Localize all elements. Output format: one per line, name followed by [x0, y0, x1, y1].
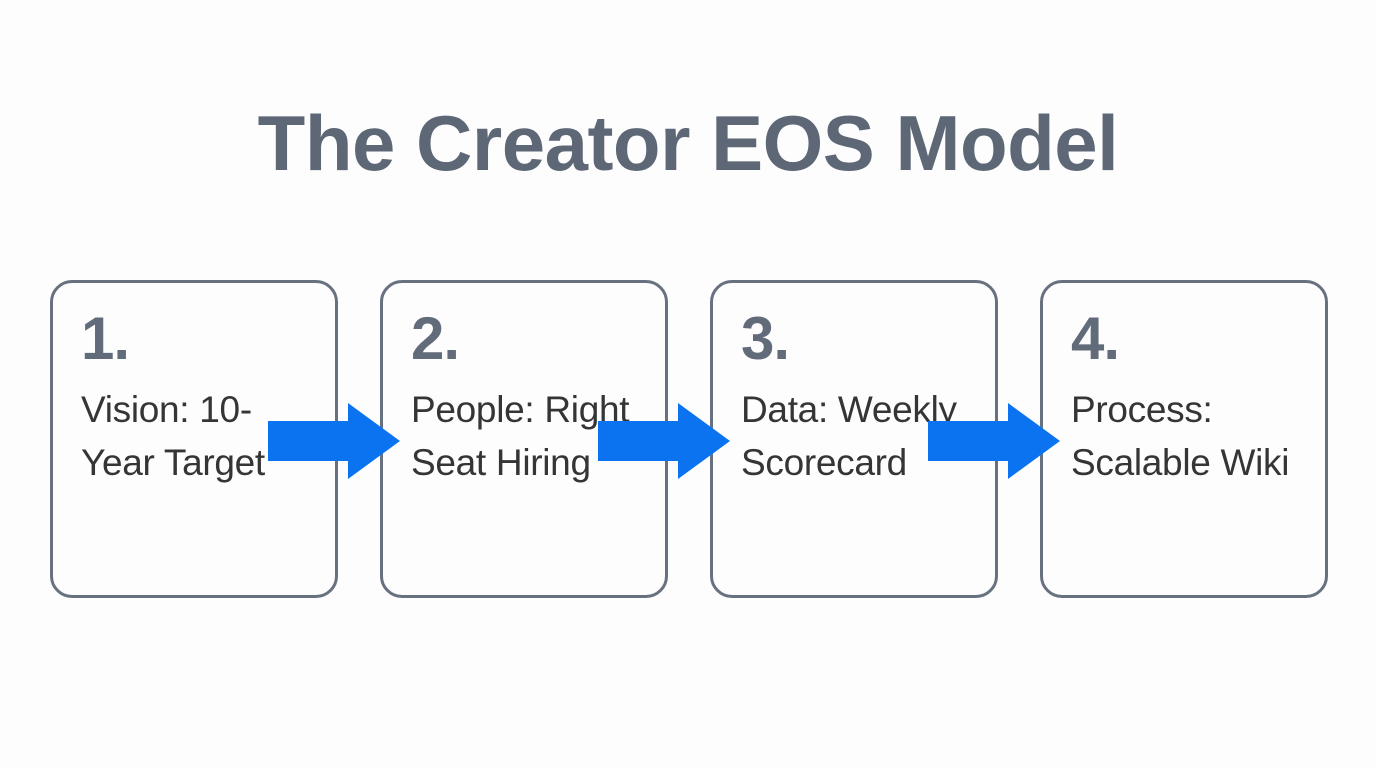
step-number-1: 1.	[81, 309, 307, 383]
step-number-2: 2.	[411, 309, 637, 383]
arrow-right-icon-3	[928, 403, 1060, 479]
step-number-4: 4.	[1071, 309, 1297, 383]
page-title: The Creator EOS Model	[0, 104, 1376, 182]
slide-canvas: The Creator EOS Model 1. Vision: 10-Year…	[0, 0, 1376, 768]
arrow-right-icon-1	[268, 403, 400, 479]
step-body-4: Process: Scalable Wiki	[1071, 383, 1297, 489]
arrow-right-icon-2	[598, 403, 730, 479]
step-number-3: 3.	[741, 309, 967, 383]
process-steps-row: 1. Vision: 10-Year Target 2. People: Rig…	[50, 280, 1328, 598]
step-card-4[interactable]: 4. Process: Scalable Wiki	[1040, 280, 1328, 598]
